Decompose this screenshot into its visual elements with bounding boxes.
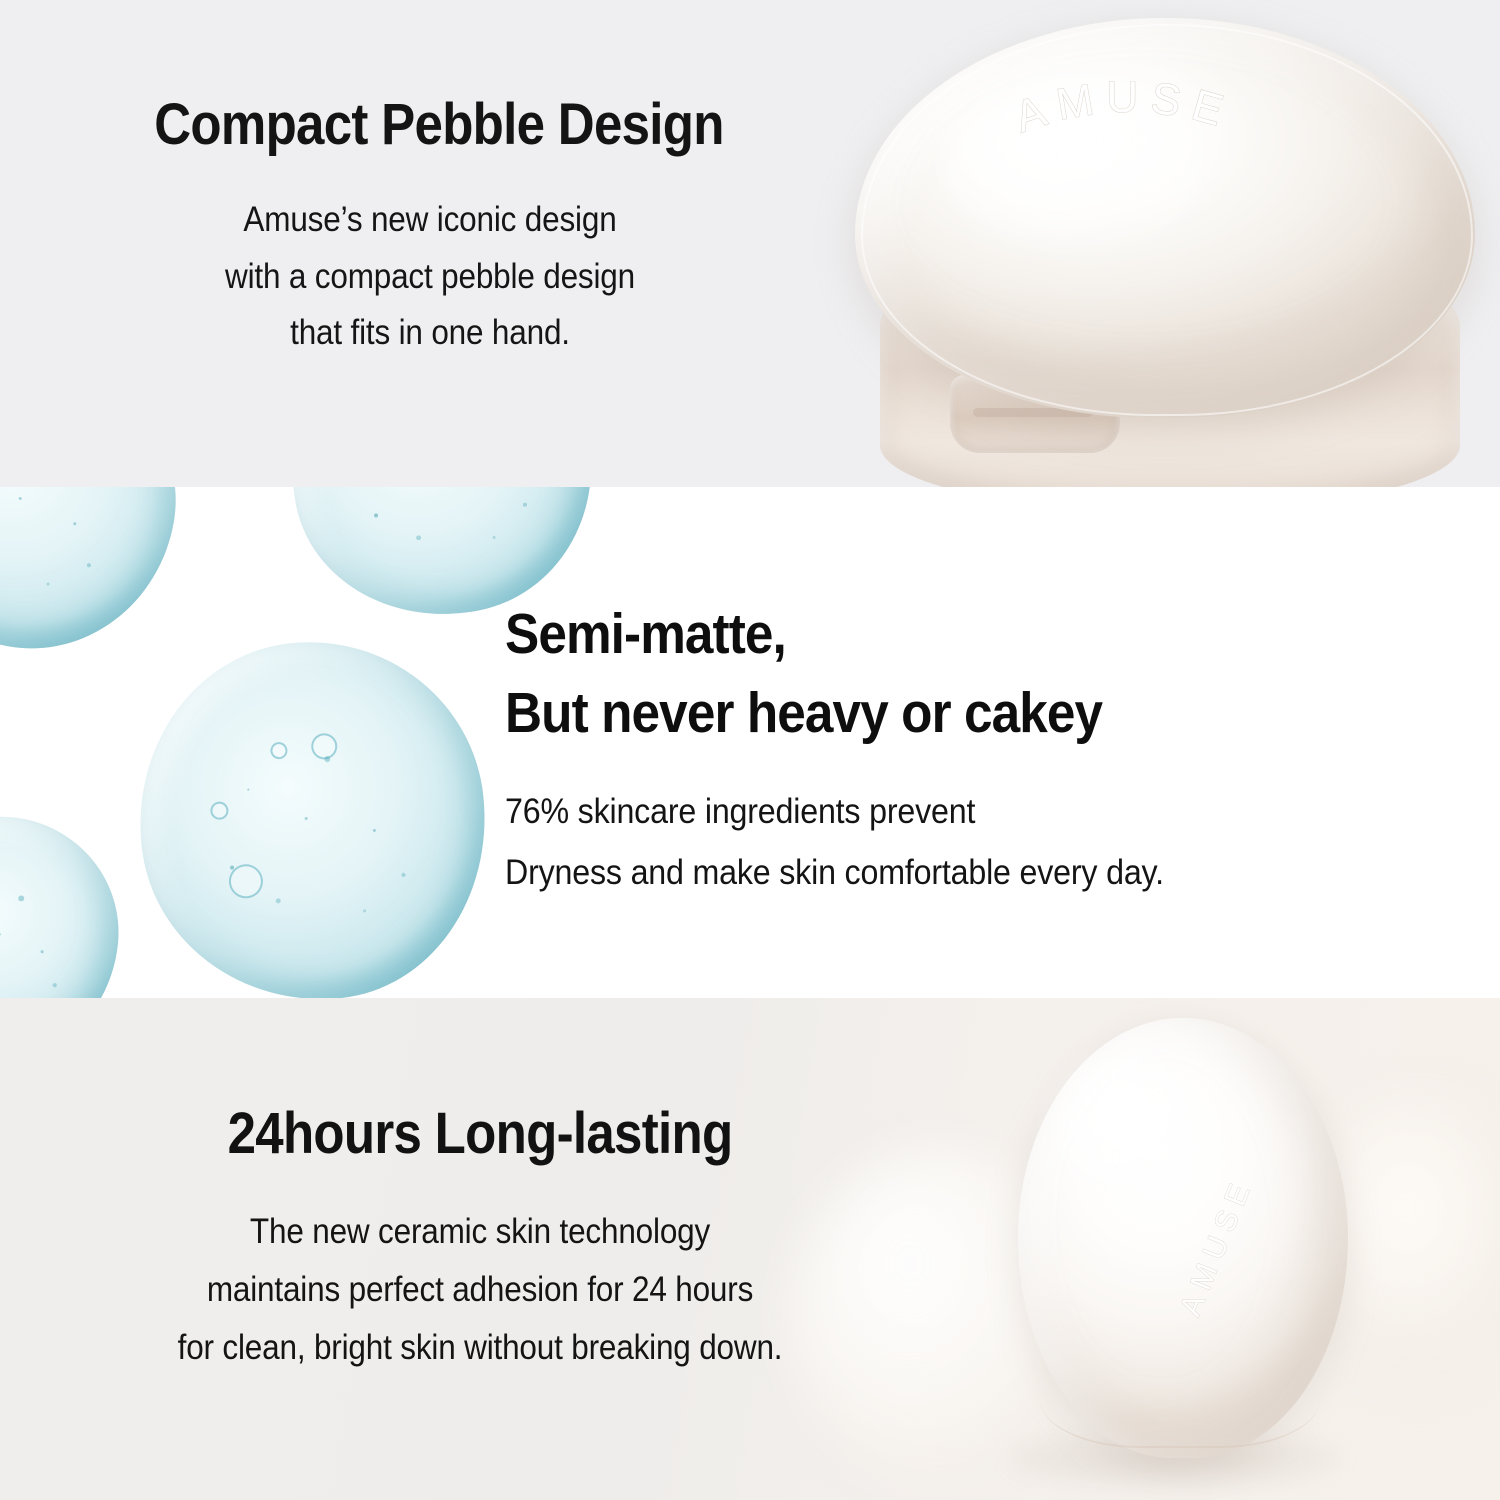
section-three-body-line-3: for clean, bright skin without breaking … xyxy=(48,1319,912,1377)
section-one-title: Compact Pebble Design xyxy=(69,95,810,156)
gel-droplet-main xyxy=(122,625,503,998)
section-two-title-line-1: Semi-matte, xyxy=(505,595,1378,674)
section-24hours-long-lasting: AMUSE 24hours Long-lasting The new ceram… xyxy=(0,998,1500,1500)
section-two-title: Semi-matte, But never heavy or cakey xyxy=(505,595,1378,752)
section-one-body-line-3: that fits in one hand. xyxy=(43,305,817,362)
section-semi-matte: Semi-matte, But never heavy or cakey 76%… xyxy=(0,487,1500,998)
svg-text:AMUSE: AMUSE xyxy=(1009,73,1239,142)
gel-droplet-top-left xyxy=(0,487,198,671)
section-two-body-line-2: Dryness and make skin comfortable every … xyxy=(505,843,1397,903)
section-one-body-line-2: with a compact pebble design xyxy=(43,249,817,306)
section-one-body-line-1: Amuse’s new iconic design xyxy=(43,192,817,249)
compact-upright-lip xyxy=(1040,1350,1320,1448)
section-two-body-line-1: 76% skincare ingredients prevent xyxy=(505,782,1397,842)
section-two-title-line-2: But never heavy or cakey xyxy=(505,674,1378,753)
gel-bubble-small-2 xyxy=(210,801,230,821)
section-compact-pebble-design: AMUSE Compact Pebble Design Amuse’s new … xyxy=(0,0,1500,487)
product-feature-page: AMUSE Compact Pebble Design Amuse’s new … xyxy=(0,0,1500,1500)
cushion-compact-product-image: AMUSE xyxy=(855,0,1500,487)
section-three-copy-block: 24hours Long-lasting The new ceramic ski… xyxy=(0,1100,960,1377)
section-three-title: 24hours Long-lasting xyxy=(58,1100,903,1167)
section-one-copy-block: Compact Pebble Design Amuse’s new iconic… xyxy=(0,95,860,362)
amuse-logo-text-upright: AMUSE xyxy=(1174,1172,1260,1320)
section-three-body: The new ceramic skin technology maintain… xyxy=(48,1203,912,1377)
amuse-logo-text: AMUSE xyxy=(1009,73,1239,142)
gel-bubble-large-1 xyxy=(227,862,264,899)
amuse-embossed-logo: AMUSE xyxy=(1005,78,1345,228)
section-two-body: 76% skincare ingredients prevent Dryness… xyxy=(505,782,1397,902)
gel-bubble-small-1 xyxy=(270,741,289,760)
section-three-body-line-1: The new ceramic skin technology xyxy=(48,1203,912,1261)
section-three-body-line-2: maintains perfect adhesion for 24 hours xyxy=(48,1261,912,1319)
gel-bubble-large-2 xyxy=(310,732,339,761)
section-one-body: Amuse’s new iconic design with a compact… xyxy=(43,192,817,362)
section-two-copy-block: Semi-matte, But never heavy or cakey 76%… xyxy=(505,595,1475,903)
gel-droplet-bottom-left xyxy=(0,806,130,998)
amuse-embossed-logo-upright: AMUSE xyxy=(1090,1128,1310,1348)
